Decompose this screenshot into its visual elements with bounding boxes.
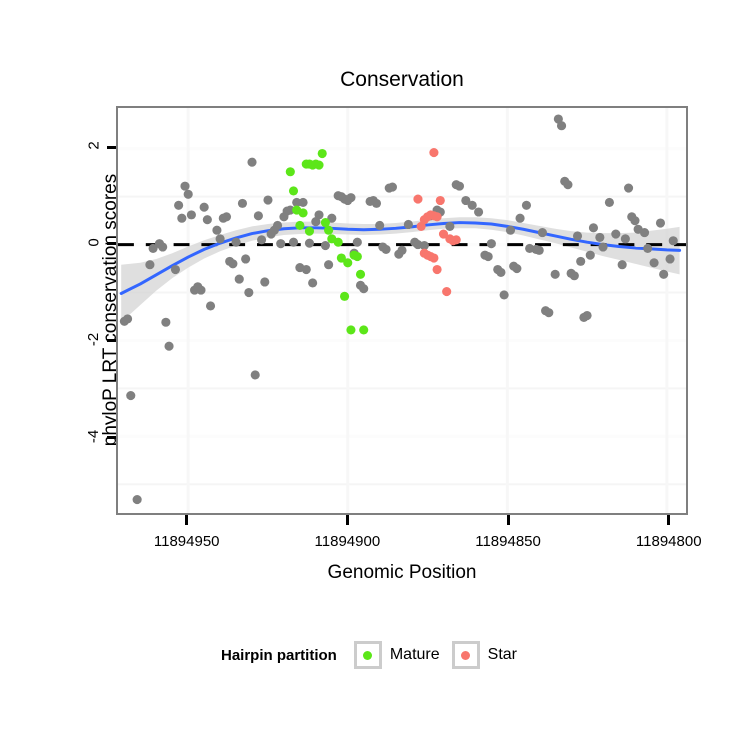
legend-item-mature[interactable]: Mature: [354, 641, 440, 669]
x-tick-label: 11894950: [117, 533, 257, 550]
data-points-layer: [120, 114, 678, 504]
legend-item-star[interactable]: Star: [452, 641, 517, 669]
y-tick-mark: [107, 339, 116, 342]
plot-canvas: [118, 108, 686, 513]
plot-panel: [116, 106, 688, 515]
legend-key-swatch: [354, 641, 382, 669]
x-tick-label: 11894850: [438, 533, 578, 550]
major-gridlines: [118, 108, 686, 513]
legend-key-swatch: [452, 641, 480, 669]
legend-label: Star: [488, 646, 517, 664]
y-tick-mark: [107, 242, 116, 245]
y-tick-mark: [107, 146, 116, 149]
x-tick-mark: [346, 515, 349, 525]
y-tick-mark: [107, 436, 116, 439]
conservation-scatter-plot: Conservation phyloP LRT conservation sco…: [0, 0, 750, 750]
y-tick-text: -4: [86, 429, 103, 442]
y-tick-text: 0: [86, 238, 103, 246]
x-tick-mark: [667, 515, 670, 525]
x-axis-title: Genomic Position: [116, 562, 688, 584]
legend-title: Hairpin partition: [221, 647, 337, 664]
x-tick-mark: [507, 515, 510, 525]
y-tick-text: -2: [86, 333, 103, 346]
legend-items: MatureStar: [354, 641, 529, 669]
x-tick-label: 11894800: [599, 533, 739, 550]
legend: Hairpin partition MatureStar: [0, 641, 750, 669]
x-tick-mark: [185, 515, 188, 525]
chart-title: Conservation: [116, 68, 688, 92]
legend-dot-icon: [363, 651, 372, 660]
legend-dot-icon: [461, 651, 470, 660]
confidence-band: [121, 217, 679, 322]
x-tick-label: 11894900: [277, 533, 417, 550]
legend-label: Mature: [390, 646, 440, 664]
y-tick-text: 2: [86, 141, 103, 149]
